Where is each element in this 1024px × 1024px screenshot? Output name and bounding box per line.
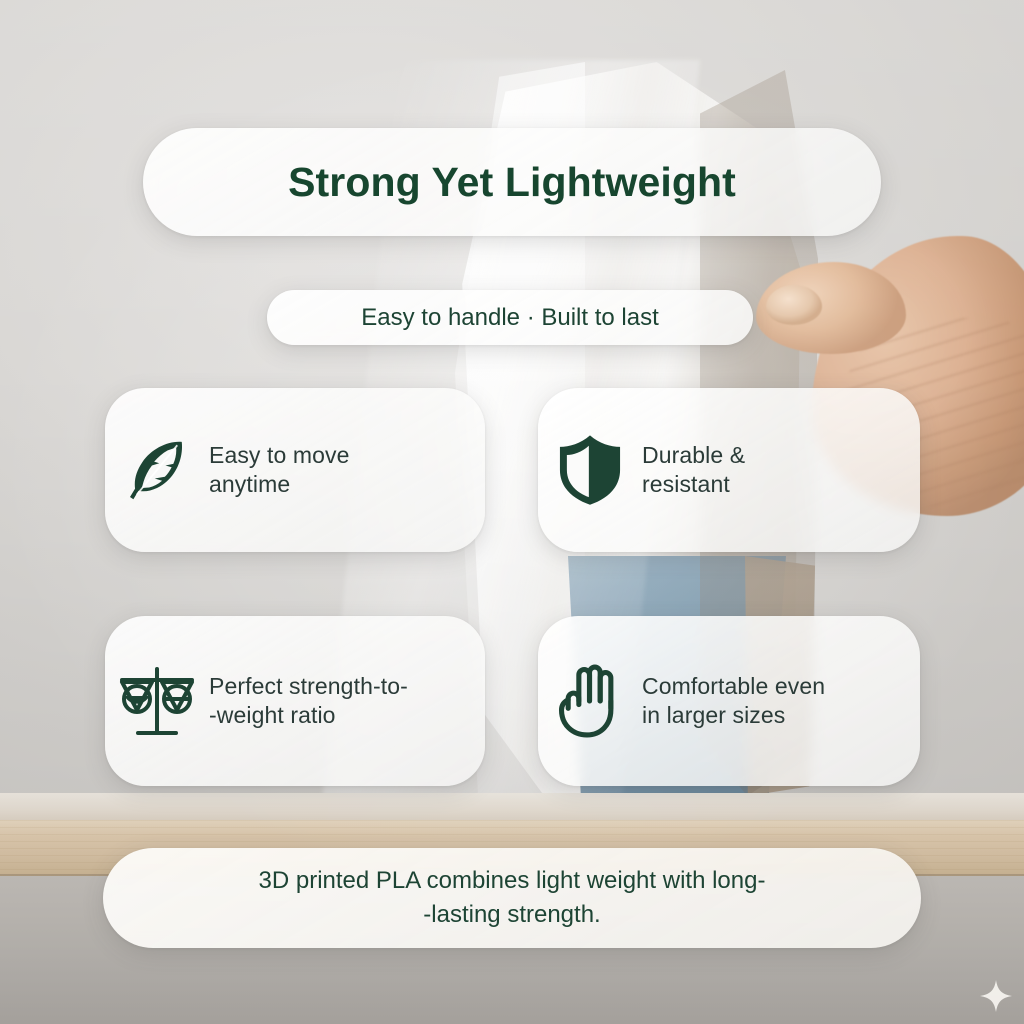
feature-card-comfortable[interactable]: Comfortable even in larger sizes	[538, 616, 920, 786]
feature-label: Perfect strength-to- -weight ratio	[209, 672, 422, 731]
feature-label-line2: resistant	[642, 470, 745, 499]
footer-caption-line2: -lasting strength.	[259, 898, 766, 932]
feather-icon	[105, 388, 209, 552]
feature-label: Easy to move anytime	[209, 441, 364, 500]
feature-label-line1: Perfect strength-to-	[209, 672, 408, 701]
shield-icon	[538, 388, 642, 552]
feature-card-durable[interactable]: Durable & resistant	[538, 388, 920, 552]
feature-label-line2: in larger sizes	[642, 701, 825, 730]
feature-card-strength-to-weight[interactable]: Perfect strength-to- -weight ratio	[105, 616, 485, 786]
page-title: Strong Yet Lightweight	[288, 162, 736, 203]
title-pill: Strong Yet Lightweight	[143, 128, 881, 236]
feature-label-line2: -weight ratio	[209, 701, 408, 730]
feature-label: Durable & resistant	[642, 441, 759, 500]
open-hand-icon	[538, 616, 642, 786]
footer-caption-pill: 3D printed PLA combines light weight wit…	[103, 848, 921, 948]
subtitle-pill: Easy to handle · Built to last	[267, 290, 753, 345]
balance-scale-icon	[105, 616, 209, 786]
sparkle-icon	[979, 979, 1013, 1013]
feature-label: Comfortable even in larger sizes	[642, 672, 839, 731]
feature-card-easy-to-move[interactable]: Easy to move anytime	[105, 388, 485, 552]
feature-label-line1: Easy to move	[209, 441, 350, 470]
feature-label-line2: anytime	[209, 470, 350, 499]
feature-label-line1: Comfortable even	[642, 672, 825, 701]
page-subtitle: Easy to handle · Built to last	[361, 304, 659, 332]
footer-caption-line1: 3D printed PLA combines light weight wit…	[259, 864, 766, 898]
infographic-stage: Strong Yet Lightweight Easy to handle · …	[0, 0, 1024, 1024]
footer-caption: 3D printed PLA combines light weight wit…	[213, 864, 812, 932]
feature-label-line1: Durable &	[642, 441, 745, 470]
